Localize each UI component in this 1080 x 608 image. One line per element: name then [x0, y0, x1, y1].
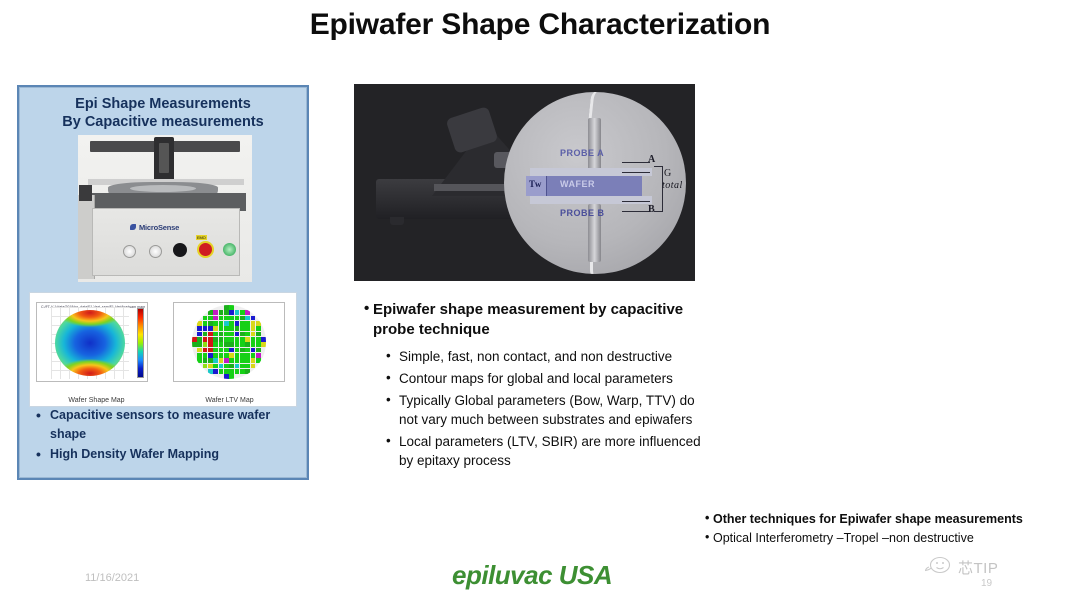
slide-date: 11/16/2021 [85, 572, 139, 584]
center-text-block: Epiwafer shape measurement by capacitive… [364, 300, 716, 474]
instrument-column [154, 137, 174, 183]
wafer-label: WAFER [560, 179, 595, 189]
instrument-photo: MicroSense EMO [78, 135, 252, 282]
black-button[interactable] [173, 243, 187, 257]
center-main-bullet: Epiwafer shape measurement by capacitive… [364, 300, 716, 340]
watermark: 芯TIP [925, 556, 998, 579]
left-panel-bullet-1: High Density Wafer Mapping [33, 445, 295, 464]
wafer-shape-map-cell: C:/FT-V-1/data/2018/sq_data/F1-Vert_sem/… [30, 293, 163, 406]
probe-b-label: PROBE B [560, 208, 605, 218]
other-techniques-heading: Other techniques for Epiwafer shape meas… [705, 510, 1065, 529]
ltv-wafer-disc [192, 305, 266, 379]
center-sub-bullet-1: Contour maps for global and local parame… [386, 369, 716, 388]
other-techniques-block: Other techniques for Epiwafer shape meas… [705, 510, 1065, 548]
shape-contour [55, 310, 125, 376]
instrument-foot-left [390, 217, 404, 225]
wafer-maps-row: C:/FT-V-1/data/2018/sq_data/F1-Vert_sem/… [29, 292, 297, 407]
left-panel-heading-line2: By Capacitive measurements [19, 113, 307, 131]
wafer-ltv-map [173, 302, 285, 382]
g-total-subscript: total [662, 180, 683, 191]
instrument-body: MicroSense EMO [92, 208, 240, 276]
emergency-off-button[interactable] [197, 241, 214, 258]
wafer-thickness-label: Tw [529, 179, 542, 189]
page-number: 19 [981, 578, 992, 589]
shape-map-caption: Wafer Shape Map [30, 397, 163, 404]
left-panel-heading-line1: Epi Shape Measurements [75, 96, 251, 112]
wafer-ltv-map-cell: Wafer LTV Map [163, 293, 296, 406]
other-techniques-item: Optical Interferometry –Tropel –non dest… [705, 529, 1065, 548]
g-total-label: G [664, 168, 672, 179]
control-knob-power[interactable] [123, 245, 136, 258]
ltv-map-caption: Wafer LTV Map [163, 397, 296, 404]
speech-bubble-icon [925, 556, 955, 579]
left-panel-bullets: Capacitive sensors to measure wafer shap… [33, 406, 295, 464]
center-sub-bullet-3: Local parameters (LTV, SBIR) are more in… [386, 432, 716, 470]
gap-a-label: A [648, 154, 656, 165]
left-panel-heading: Epi Shape Measurements By Capacitive mea… [19, 95, 307, 131]
epiluvac-logo: epiluvac USA [452, 560, 612, 591]
watermark-text: 芯TIP [958, 557, 998, 578]
center-sub-bullet-0: Simple, fast, non contact, and non destr… [386, 347, 716, 366]
emo-label: EMO [196, 235, 207, 240]
probe-a-body [588, 118, 601, 172]
center-sub-bullets: Simple, fast, non contact, and non destr… [386, 347, 716, 471]
microsense-logo: MicroSense [139, 223, 179, 232]
gap-a-dimension [622, 162, 650, 173]
slide-root: Epiwafer Shape Characterization Epi Shap… [0, 0, 1080, 608]
left-panel-bullet-0: Capacitive sensors to measure wafer shap… [33, 406, 295, 445]
left-info-panel: Epi Shape Measurements By Capacitive mea… [17, 85, 309, 480]
center-sub-bullet-2: Typically Global parameters (Bow, Warp, … [386, 391, 716, 429]
gap-b-dimension [622, 201, 650, 212]
power-indicator-light [223, 243, 236, 256]
control-knob-mode[interactable] [149, 245, 162, 258]
probe-a-label: PROBE A [560, 148, 604, 158]
ltv-die-grid [192, 305, 266, 379]
capacitive-probe-photo: PROBE A PROBE B WAFER Tw A B G total [354, 84, 695, 281]
shape-map-plot-area [51, 307, 129, 379]
shape-map-colorbar [137, 308, 144, 378]
instrument-side-box [79, 185, 92, 201]
wafer-shape-map: C:/FT-V-1/data/2018/sq_data/F1-Vert_sem/… [36, 302, 148, 382]
page-title: Epiwafer Shape Characterization [0, 8, 1080, 42]
probe-detail-inset: PROBE A PROBE B WAFER Tw A B G total [504, 92, 686, 274]
